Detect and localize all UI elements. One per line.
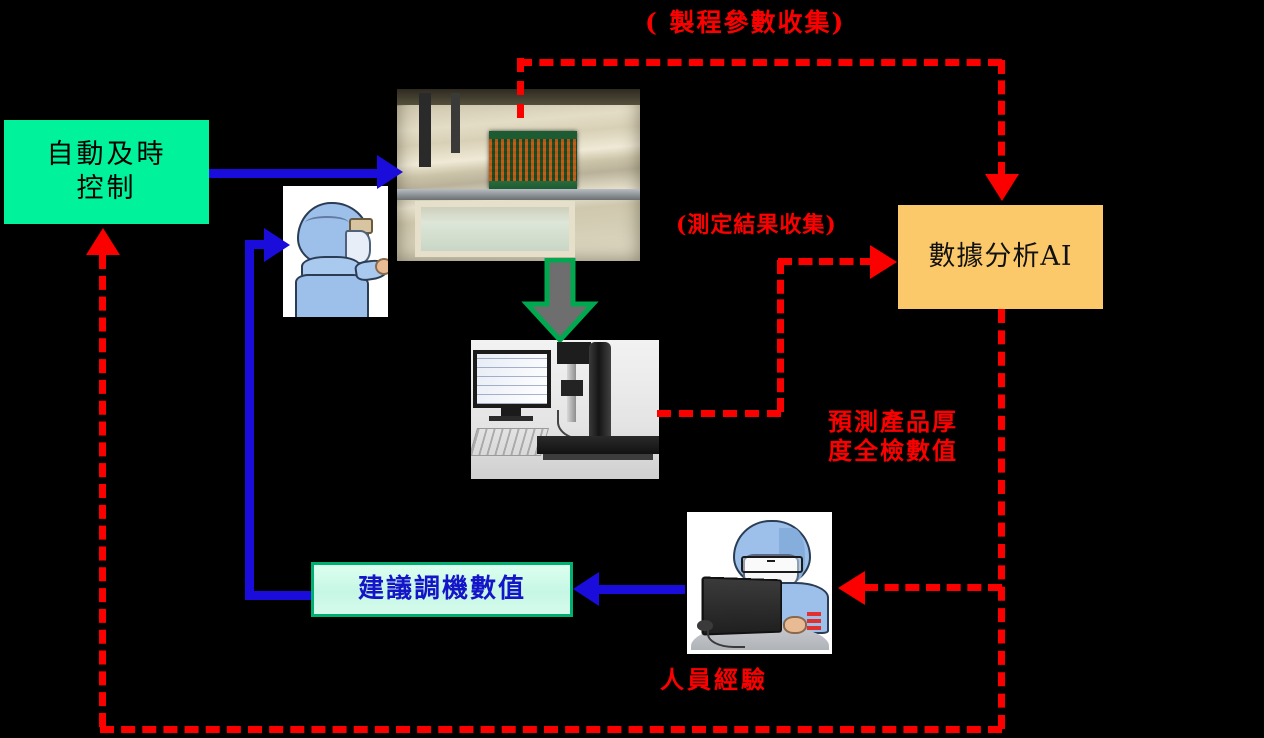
worker-laptop-illustration [687,512,832,654]
red-connector-measure-result-top [778,258,874,265]
plating-tank [415,201,575,257]
red-arrowhead-into-ai-box-left [870,245,897,279]
base-foot [543,454,653,460]
red-arrowhead-into-ai-box [985,174,1019,201]
box-data-analysis-ai[interactable]: 數據分析AI [898,205,1103,309]
red-connector-process-param-top [518,59,1002,66]
label-measurement-result-collection: (測定結果收集) [676,212,837,238]
box-auto-realtime-control[interactable]: 自動及時 控制 [4,120,209,224]
worker-standing-illustration [283,186,388,317]
measurement-station-photo [471,340,659,479]
red-connector-measure-result-bottom [657,410,781,417]
monitor-base [489,416,533,421]
blue-connector-suggestion-riser [245,240,254,600]
monitor-stand [501,408,521,416]
hood-fold-line [305,216,349,230]
glasses-icon [741,556,803,573]
machine-column-right [451,93,460,153]
blue-arrowhead-into-suggestion-box [573,572,599,606]
blue-connector-control-to-machine [209,169,379,178]
red-connector-ai-to-operator-horizontal [864,584,1002,591]
red-arrowhead-into-operator [838,571,865,605]
pcb-panel-grid [489,139,577,181]
red-connector-process-param-drop [998,60,1005,176]
measurement-head [557,342,591,364]
box-suggested-machine-settings[interactable]: 建議調機數值 [311,562,573,617]
laptop [702,576,782,635]
label-process-parameter-collection: ( 製程參數收集) [645,8,845,38]
coverall-body [295,274,369,317]
blue-connector-operator-to-suggestion [589,585,685,594]
granite-base-plate [537,436,659,454]
blue-connector-suggestion-to-riser [245,591,315,600]
monitor [473,350,551,408]
worker-hand [783,616,807,634]
blue-arrowhead-into-machine [377,155,403,189]
monitor-chart-content [477,354,547,404]
label-predict-product-thickness: 預測產品厚 度全檢數值 [828,408,958,466]
gray-down-arrow-icon [521,258,599,342]
blue-arrowhead-into-worker [264,228,290,262]
red-connector-process-param-stub [517,58,524,118]
red-connector-measure-result-rise [777,260,784,412]
machine-column-left [419,93,431,167]
desk-red-object [807,612,821,630]
red-connector-left-riser [99,255,106,727]
diagram-canvas: 自動及時 控制 數據分析AI 建議調機數值 ( 製程參數收集) (測定結果收集)… [0,0,1264,738]
pcb-panel-rack [489,131,577,189]
worker-hand [375,258,388,275]
glasses-bridge [767,560,775,562]
machine-rail [397,189,640,200]
probe-housing [561,380,583,396]
label-staff-experience: 人員經驗 [660,666,768,695]
red-connector-ai-to-operator-vertical [998,309,1005,729]
red-connector-bottom-loop [100,726,1002,733]
red-arrowhead-into-auto-control [86,228,120,255]
